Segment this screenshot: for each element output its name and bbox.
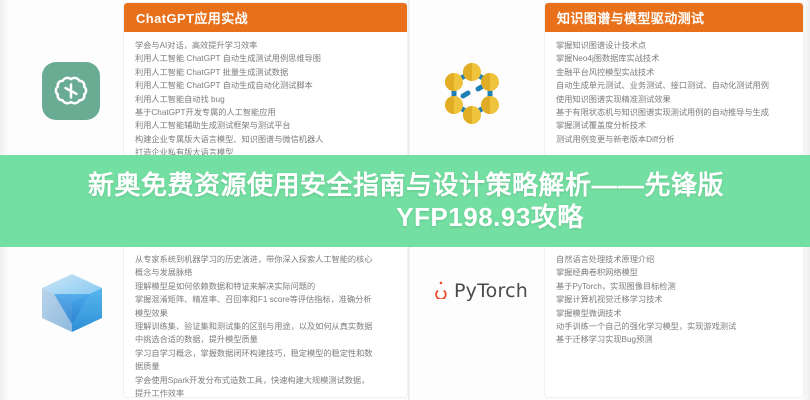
card-line: 学会与AI对话，高效提升学习效率: [135, 40, 396, 51]
card-line: 据质量: [135, 361, 396, 372]
card-chatgpt-practice[interactable]: ChatGPT应用实战 学会与AI对话，高效提升学习效率 利用人工智能 Chat…: [124, 3, 407, 155]
card-line: 掌握Neo4j图数据库实战技术: [556, 53, 792, 64]
card-line: 学会使用Spark开发分布式造数工具，快速构建大规模测试数据，: [135, 375, 396, 386]
card-line: 模型效果: [135, 308, 396, 319]
knowledge-graph-icon: [435, 58, 509, 132]
card-line: 自然语言处理技术原理介绍: [556, 254, 792, 265]
card-line: 利用人工智能辅助生成测试框架与测试平台: [135, 120, 396, 131]
card-line: 掌握模型微调技术: [556, 308, 792, 319]
card-line: 掌握经典卷积网络模型: [556, 267, 792, 278]
card-line: 提升工作效率: [135, 388, 396, 397]
card-body-chatgpt-practice: 学会与AI对话，高效提升学习效率 利用人工智能 ChatGPT 自动生成测试用例…: [124, 32, 407, 155]
blue-cube-icon: [36, 268, 108, 340]
card-line: 金融平台风控模型实战技术: [556, 67, 792, 78]
card-line: 基于迁移学习实现Bug预测: [556, 334, 792, 345]
card-line: 构建企业专属版大语言模型、知识图谱与微信机器人: [135, 134, 396, 145]
card-knowledge-graph-testing[interactable]: 知识图谱与模型驱动测试 掌握知识图谱设计技术点 掌握Neo4j图数据库实战技术 …: [545, 3, 803, 155]
card-line: 理解训练集、验证集和测试集的区别与用途，以及如何从真实数据: [135, 321, 396, 332]
card-line: 动手训练一个自己的强化学习模型，实现游戏测试: [556, 321, 792, 332]
card-line: 利用人工智能 ChatGPT 自动生成测试用例思维导图: [135, 53, 396, 64]
card-line: 测试用例变更与新老版本Diff分析: [556, 134, 792, 145]
card-line: 使用知识图谱实现精准测试效果: [556, 94, 792, 105]
card-line: 中挑选合适的数据，提升模型质量: [135, 334, 396, 345]
card-line: 自动生成单元测试、业务测试、接口测试、自动化测试用例: [556, 80, 792, 91]
headline-line-2: YFP198.93攻略: [396, 201, 584, 233]
headline-overlay-band: 新奥免费资源使用安全指南与设计策略解析——先锋版 YFP198.93攻略: [0, 155, 810, 247]
card-line: 掌握知识图谱设计技术点: [556, 40, 792, 51]
knowledge-graph-icon-slot: [435, 58, 509, 132]
card-line: 掌握计算机视觉迁移学习技术: [556, 294, 792, 305]
pytorch-logo-slot: PyTorch: [428, 278, 528, 304]
headline-line-1: 新奥免费资源使用安全指南与设计策略解析——先锋版: [88, 169, 724, 201]
card-line: 基于PyTorch，实现图像目标检测: [556, 281, 792, 292]
card-line: 掌握混淆矩阵、精准率、召回率和F1 score等评估指标，准确分析: [135, 294, 396, 305]
card-title-chatgpt-practice: ChatGPT应用实战: [124, 3, 407, 32]
card-line: 基于ChatGPT开发专属的人工智能应用: [135, 107, 396, 118]
spark-cube-icon-slot: [36, 268, 108, 340]
poster-canvas: ChatGPT应用实战 学会与AI对话，高效提升学习效率 利用人工智能 Chat…: [0, 0, 810, 400]
pytorch-wordmark: PyTorch: [454, 280, 528, 302]
card-body-knowledge-graph-testing: 掌握知识图谱设计技术点 掌握Neo4j图数据库实战技术 金融平台风控模型实战技术…: [545, 32, 803, 155]
card-line: 基于有限状态机与知识图谱实现测试用例的自动推导与生成: [556, 107, 792, 118]
card-body-ai-product-quality: 从专家系统到机器学习的历史演进，带你深入探索人工智能的核心 概念与发展脉络 理解…: [124, 246, 407, 397]
card-body-pytorch-deep-learning: 自然语言处理技术原理介绍 掌握经典卷积网络模型 基于PyTorch，实现图像目标…: [545, 246, 803, 358]
card-line: 利用人工智能 ChatGPT 自动生成自动化测试脚本: [135, 80, 396, 91]
card-line: 掌握测试覆盖度分析技术: [556, 120, 792, 131]
pytorch-flame-icon: [428, 278, 447, 304]
chatgpt-icon-slot: [42, 62, 100, 120]
card-line: 利用人工智能 ChatGPT 批量生成测试数据: [135, 67, 396, 78]
openai-logo-icon: [42, 62, 100, 120]
pytorch-lockup: PyTorch: [428, 278, 528, 304]
card-title-knowledge-graph-testing: 知识图谱与模型驱动测试: [545, 3, 803, 32]
card-line: 学习自学习概念，掌握数据闭环构建技巧，稳定模型的稳定性和数: [135, 348, 396, 359]
card-line: 利用人工智能自动找 bug: [135, 94, 396, 105]
card-line: 概念与发展脉络: [135, 267, 396, 278]
card-line: 打造企业私有版大语言模型: [135, 147, 396, 155]
card-line: 从专家系统到机器学习的历史演进，带你深入探索人工智能的核心: [135, 254, 396, 265]
card-line: 理解模型是如何依赖数据和特证来解决实际问题的: [135, 281, 396, 292]
